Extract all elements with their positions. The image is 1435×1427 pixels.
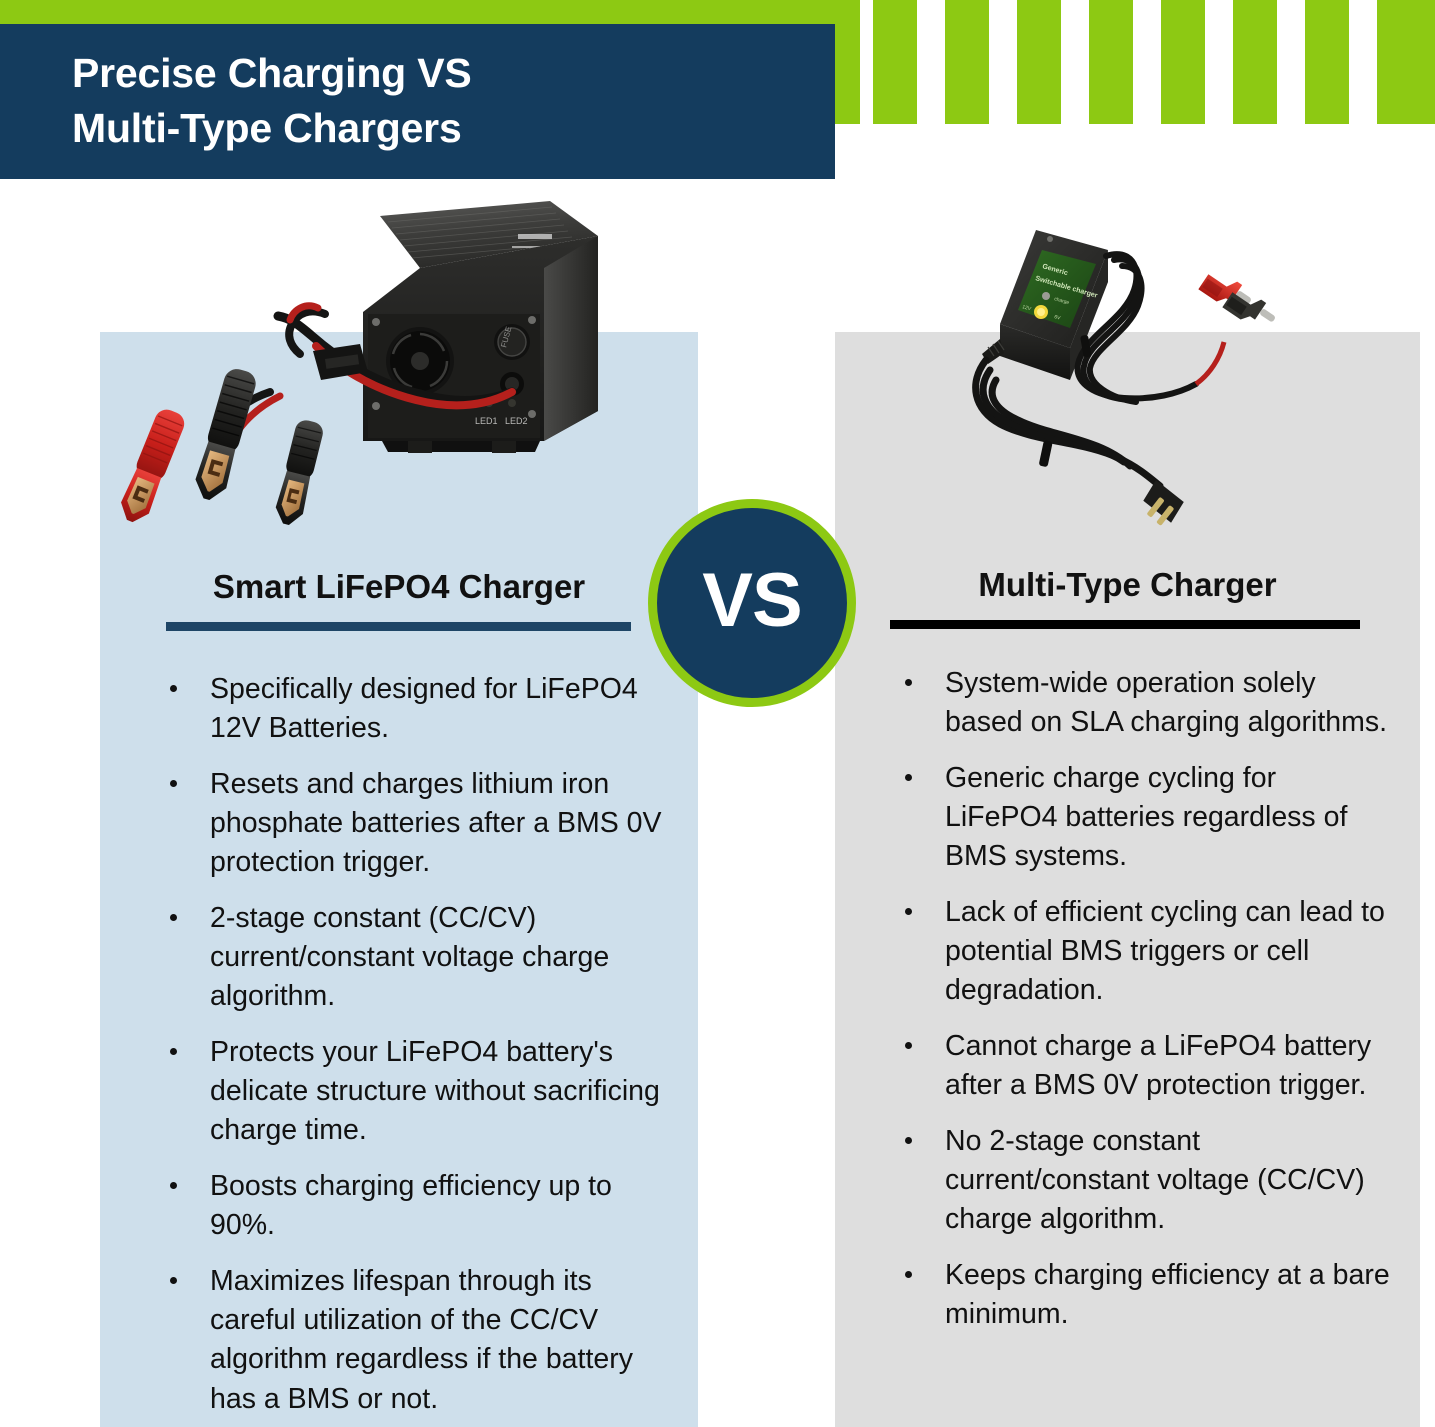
right-feature-item: Cannot charge a LiFePO4 battery after a …	[891, 1027, 1391, 1105]
bullet-dot-icon	[170, 1048, 177, 1055]
left-feature-item-text: Protects your LiFePO4 battery's delicate…	[210, 1036, 660, 1146]
left-feature-item: Maximizes lifespan through its careful u…	[156, 1262, 676, 1418]
stripe-bar	[1089, 0, 1133, 124]
left-feature-item-text: Boosts charging efficiency up to 90%.	[210, 1170, 612, 1241]
title-block: Precise Charging VS Multi-Type Chargers	[0, 24, 835, 179]
left-feature-item-text: Resets and charges lithium iron phosphat…	[210, 768, 662, 878]
smart-lifepo4-charger-photo: FUSE LED1 LED2	[120, 196, 610, 556]
left-feature-item: Specifically designed for LiFePO4 12V Ba…	[156, 670, 676, 748]
stripe-bar	[1017, 0, 1061, 124]
right-feature-item-text: Generic charge cycling for LiFePO4 batte…	[945, 762, 1347, 872]
bullet-dot-icon	[905, 1042, 912, 1049]
left-feature-item-text: 2-stage constant (CC/CV) current/constan…	[210, 902, 609, 1012]
right-feature-item-text: No 2-stage constant current/constant vol…	[945, 1125, 1365, 1235]
right-feature-item-text: Cannot charge a LiFePO4 battery after a …	[945, 1030, 1371, 1101]
stripe-bar	[1377, 0, 1435, 124]
bullet-dot-icon	[170, 914, 177, 921]
vs-badge-label: VS	[702, 563, 801, 639]
left-feature-item-text: Specifically designed for LiFePO4 12V Ba…	[210, 673, 638, 744]
left-feature-item: Protects your LiFePO4 battery's delicate…	[156, 1033, 676, 1150]
svg-text:LED1: LED1	[475, 416, 498, 426]
left-feature-item: Resets and charges lithium iron phosphat…	[156, 765, 676, 882]
vs-badge: VS	[648, 499, 856, 707]
bullet-dot-icon	[905, 774, 912, 781]
bullet-dot-icon	[905, 908, 912, 915]
stripe-bar	[945, 0, 989, 124]
page-title-line-2: Multi-Type Chargers	[72, 101, 795, 156]
left-feature-item: Boosts charging efficiency up to 90%.	[156, 1167, 676, 1245]
infographic-root: Precise Charging VS Multi-Type Chargers …	[0, 0, 1435, 1427]
right-heading-divider	[890, 620, 1360, 629]
left-heading-divider	[166, 622, 631, 631]
bullet-dot-icon	[905, 679, 912, 686]
left-feature-item-text: Maximizes lifespan through its careful u…	[210, 1265, 633, 1414]
stripe-bar	[873, 0, 917, 124]
svg-text:LED2: LED2	[505, 416, 528, 426]
bullet-dot-icon	[170, 1277, 177, 1284]
stripe-bar	[1305, 0, 1349, 124]
right-feature-item: No 2-stage constant current/constant vol…	[891, 1122, 1391, 1239]
right-panel-heading: Multi-Type Charger	[835, 566, 1420, 604]
bullet-dot-icon	[170, 1182, 177, 1189]
right-feature-item: System-wide operation solely based on SL…	[891, 664, 1391, 742]
right-feature-list: System-wide operation solely based on SL…	[891, 664, 1391, 1351]
right-feature-item-text: Keeps charging efficiency at a bare mini…	[945, 1259, 1390, 1330]
right-feature-item: Generic charge cycling for LiFePO4 batte…	[891, 759, 1391, 876]
bullet-dot-icon	[170, 685, 177, 692]
bullet-dot-icon	[905, 1137, 912, 1144]
bullet-dot-icon	[905, 1271, 912, 1278]
stripe-bar	[1233, 0, 1277, 124]
stripe-bar	[1161, 0, 1205, 124]
multi-type-charger-photo: Generic Switchable charger charge 12V 6V	[938, 208, 1288, 553]
page-title-line-1: Precise Charging VS	[72, 46, 795, 101]
bullet-dot-icon	[170, 780, 177, 787]
left-feature-list: Specifically designed for LiFePO4 12V Ba…	[156, 670, 676, 1427]
right-feature-item-text: System-wide operation solely based on SL…	[945, 667, 1387, 738]
right-feature-item: Lack of efficient cycling can lead to po…	[891, 893, 1391, 1010]
right-feature-item-text: Lack of efficient cycling can lead to po…	[945, 896, 1385, 1006]
left-feature-item: 2-stage constant (CC/CV) current/constan…	[156, 899, 676, 1016]
left-panel-heading: Smart LiFePO4 Charger	[100, 568, 698, 606]
right-feature-item: Keeps charging efficiency at a bare mini…	[891, 1256, 1391, 1334]
